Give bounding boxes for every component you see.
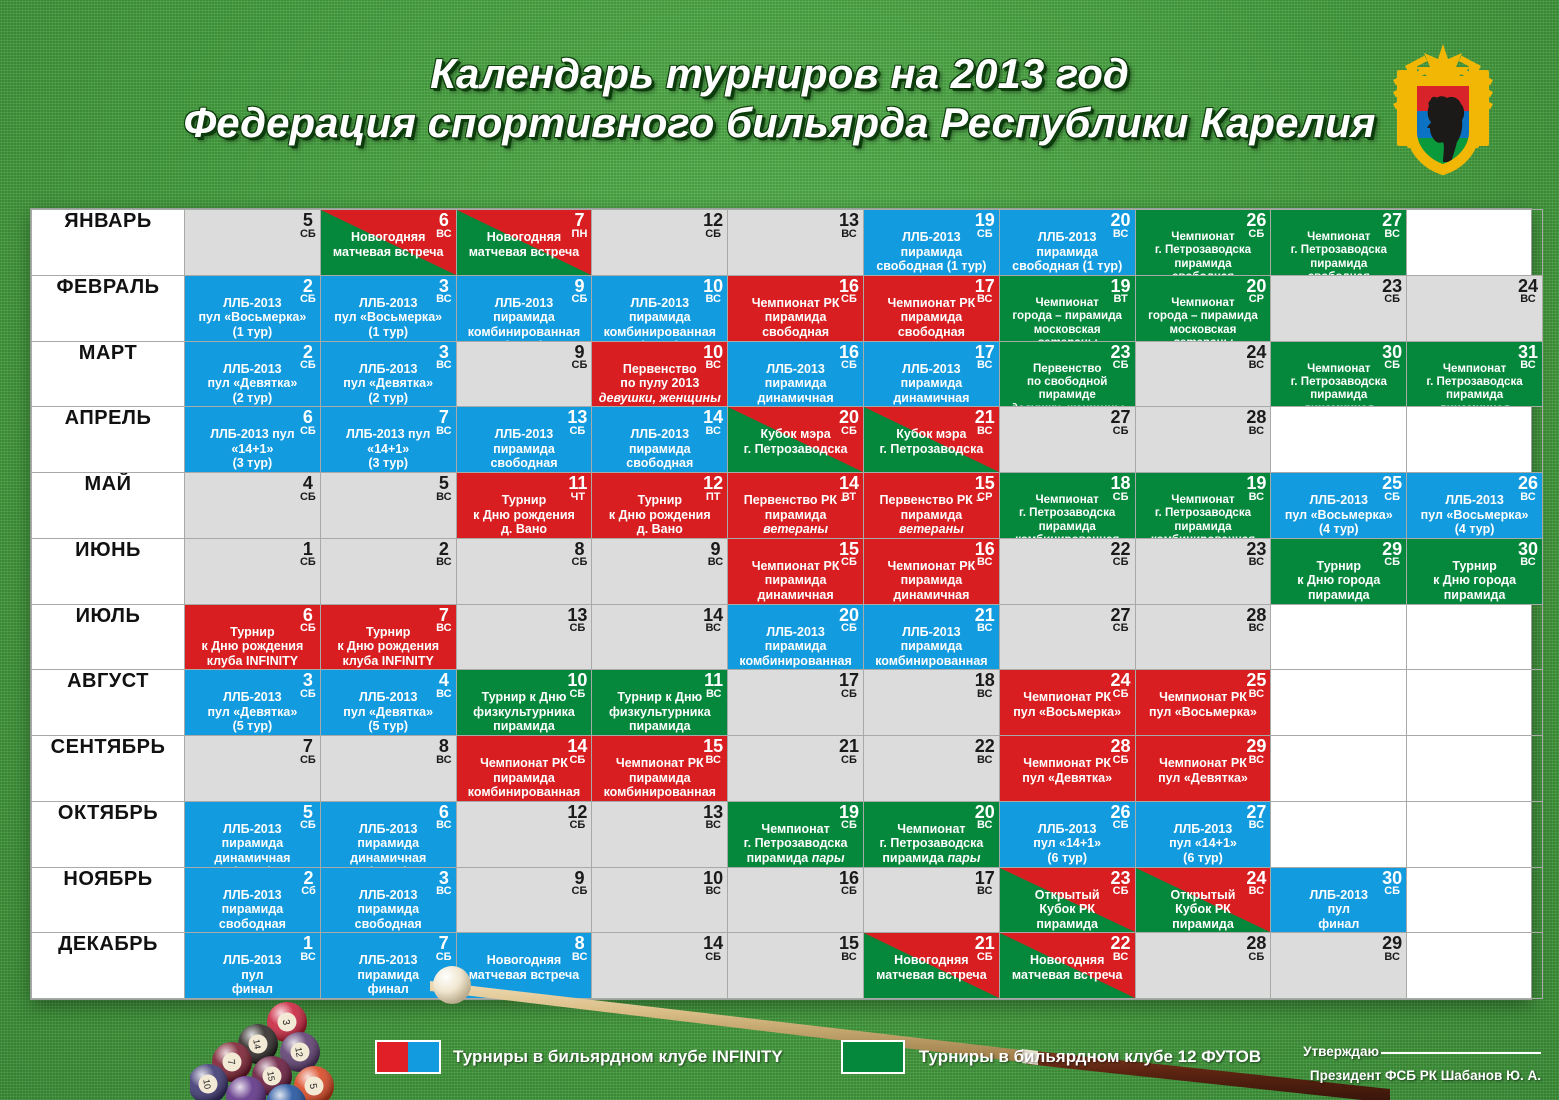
- cell-background-grey: 18ВС: [864, 670, 999, 735]
- calendar-cell-day[interactable]: 27ВСЧемпионатг. Петрозаводскапирамидасво…: [1271, 210, 1407, 276]
- cell-date: 5СБ: [300, 212, 316, 239]
- cell-date-number: 30: [1382, 344, 1402, 361]
- month-label: НОЯБРЬ: [32, 867, 185, 933]
- cell-date-number: 19: [1111, 278, 1131, 295]
- calendar-cell-day[interactable]: 24ВС: [1407, 275, 1543, 341]
- calendar-cell-day[interactable]: 15СРПервенство РК –пирамидаветераны: [863, 473, 999, 539]
- cell-event-label: ЛЛБ-2013пул «Восьмерка»(1 тур): [188, 296, 317, 340]
- cell-date: 16СБ: [839, 870, 859, 897]
- cell-background-green: 30ВСТурнирк Дню городапирамида: [1407, 539, 1542, 604]
- calendar-cell-day[interactable]: 7ПННовогодняяматчевая встреча: [456, 210, 592, 276]
- cell-date-weekday: СБ: [300, 492, 316, 502]
- calendar-row-январь: ЯНВАРЬ5СБ6ВСНовогодняяматчевая встреча7П…: [32, 210, 1543, 276]
- calendar-cell-day[interactable]: 23СБПервенствопо свободнойпирамидедевушк…: [999, 341, 1135, 407]
- cell-date: 3СБ: [300, 672, 316, 699]
- cell-date: 27СБ: [1111, 409, 1131, 436]
- cell-date-weekday: ВС: [436, 886, 451, 896]
- cell-date-weekday: ВС: [1246, 820, 1266, 830]
- calendar-cell-day[interactable]: 6ВСЛЛБ-2013пирамидадинамичная(6 тур): [320, 801, 456, 867]
- cell-date-number: 6: [436, 804, 451, 821]
- cell-background-grey: 4СБ: [185, 473, 320, 538]
- cell-date-weekday: СБ: [572, 886, 588, 896]
- cell-date: 25ВС: [1246, 672, 1266, 699]
- calendar-cell-day[interactable]: 19ВТЧемпионатгорода – пирамидамосковская…: [999, 275, 1135, 341]
- calendar-cell-day[interactable]: 26СБЧемпионатг. Петрозаводскапирамидасво…: [1135, 210, 1271, 276]
- cell-date: 6ВС: [436, 212, 451, 239]
- calendar-cell-day[interactable]: 2СБЛЛБ-2013пул «Девятка»(2 тур): [185, 341, 321, 407]
- cell-background-blue: 20ВСЛЛБ-2013пирамидасвободная (1 тур): [1000, 210, 1135, 275]
- calendar-cell-day[interactable]: 24СБЧемпионат РКпул «Восьмерка»: [999, 670, 1135, 736]
- cell-background-grey: 16СБ: [728, 868, 863, 933]
- cell-background-grey: 22СБ: [1000, 539, 1135, 604]
- calendar-cell-day[interactable]: 9СБЛЛБ-2013пирамидакомбинированная(2 тур…: [456, 275, 592, 341]
- cell-date: 23ВС: [1246, 541, 1266, 568]
- cell-date-weekday: ВС: [436, 492, 451, 502]
- calendar-cell-day[interactable]: 24ВС: [1135, 341, 1271, 407]
- calendar-cell-day[interactable]: 29ВСЧемпионат РКпул «Девятка»: [1135, 736, 1271, 802]
- calendar-cell-day[interactable]: 5ВС: [320, 473, 456, 539]
- calendar-cell-day[interactable]: 31ВСЧемпионатг. Петрозаводскапирамидадин…: [1407, 341, 1543, 407]
- calendar-cell-day[interactable]: 29СБТурнирк Дню городапирамида: [1271, 538, 1407, 604]
- signature-line: [1381, 1052, 1541, 1054]
- cell-background-blue: 2СбЛЛБ-2013пирамидасвободная(7 тур): [185, 868, 320, 933]
- calendar-cell-day[interactable]: 27СБ: [999, 407, 1135, 473]
- cell-background-red: 7ВСТурнирк Дню рожденияклуба INFINITY: [321, 605, 456, 670]
- cell-background-grey: 8ВС: [321, 736, 456, 801]
- cell-background-blue: 13СБЛЛБ-2013пирамида свободная(4 тур): [457, 407, 592, 472]
- calendar-cell-empty: [1271, 604, 1407, 670]
- cell-date-weekday: СБ: [1382, 294, 1402, 304]
- cell-date: 14СБ: [567, 738, 587, 765]
- cell-background-grey: 22ВС: [864, 736, 999, 801]
- calendar-cell-day[interactable]: 23ВС: [1135, 538, 1271, 604]
- calendar-cell-day[interactable]: 30СБЛЛБ-2013пулфинал: [1271, 867, 1407, 933]
- calendar-cell-day[interactable]: 5СБ: [185, 210, 321, 276]
- cell-date-number: 20: [1246, 278, 1266, 295]
- calendar-cell-day[interactable]: 18ВС: [863, 670, 999, 736]
- cell-date-number: 7: [300, 738, 316, 755]
- calendar-cell-day[interactable]: 5СБЛЛБ-2013пирамидадинамичная(6 тур): [185, 801, 321, 867]
- calendar-cell-day[interactable]: 7СБ: [185, 736, 321, 802]
- cell-date: 23СБ: [1111, 344, 1131, 371]
- cell-date-number: 15: [839, 935, 859, 952]
- calendar-cell-day[interactable]: 4ВСЛЛБ-2013пул «Девятка»(5 тур): [320, 670, 456, 736]
- cell-date-weekday: СБ: [839, 689, 859, 699]
- cell-date: 12СБ: [703, 212, 723, 239]
- cell-date-weekday: ВС: [1518, 360, 1538, 370]
- cell-date-weekday: СР: [975, 492, 995, 502]
- cell-date-number: 30: [1518, 541, 1538, 558]
- calendar-cell-day[interactable]: 17ВС: [863, 867, 999, 933]
- cell-date-number: 24: [1518, 278, 1538, 295]
- cell-background-green: 29СБТурнирк Дню городапирамида: [1271, 539, 1406, 604]
- cell-background-green: 26СБЧемпионатг. Петрозаводскапирамидасво…: [1136, 210, 1271, 275]
- calendar-row-март: МАРТ2СБЛЛБ-2013пул «Девятка»(2 тур)3ВСЛЛ…: [32, 341, 1543, 407]
- calendar-cell-day[interactable]: 26ВСЛЛБ-2013пул «Восьмерка»(4 тур): [1407, 473, 1543, 539]
- cell-event-label: ЛЛБ-2013пирамидадинамичная(6 тур): [324, 822, 453, 867]
- calendar-cell-day[interactable]: 13СБ: [456, 604, 592, 670]
- cell-date-weekday: ВС: [1518, 492, 1538, 502]
- cell-date: 28ВС: [1246, 607, 1266, 634]
- cell-date-weekday: СБ: [975, 229, 995, 239]
- cell-date-number: 9: [572, 344, 588, 361]
- cell-date-weekday: ВС: [1246, 557, 1266, 567]
- cell-date-weekday: ВС: [975, 689, 995, 699]
- cell-date: 9СБ: [572, 278, 588, 305]
- calendar-cell-day[interactable]: 9СБ: [456, 867, 592, 933]
- calendar-cell-day[interactable]: 2ВС: [320, 538, 456, 604]
- cell-date: 7ПН: [572, 212, 588, 239]
- calendar-cell-day[interactable]: 27ВСЛЛБ-2013пул «14+1»(6 тур): [1135, 801, 1271, 867]
- cell-date-number: 17: [975, 870, 995, 887]
- cell-background-blue: 25СБЛЛБ-2013пул «Восьмерка»(4 тур): [1271, 473, 1406, 538]
- cell-date-weekday: СБ: [1111, 755, 1131, 765]
- cell-date: 9ВС: [708, 541, 723, 568]
- cell-background-grey: 14ВС: [592, 605, 727, 670]
- calendar-cell-day[interactable]: 9СБ: [456, 341, 592, 407]
- legend-item-12futov: Турниры в бильярдном клубе 12 ФУТОВ: [841, 1040, 1261, 1074]
- cell-date-weekday: ВС: [1518, 294, 1538, 304]
- calendar-cell-day[interactable]: 4СБ: [185, 473, 321, 539]
- calendar-cell-day[interactable]: 28ВС: [1135, 604, 1271, 670]
- cell-date: 19СБ: [839, 804, 859, 831]
- cell-date-number: 16: [839, 870, 859, 887]
- cell-background-green: 20СРЧемпионатгорода – пирамидамосковская…: [1136, 276, 1271, 341]
- calendar-cell-day[interactable]: 10ВСЛЛБ-2013пирамидакомбинированная(2 ту…: [592, 275, 728, 341]
- calendar-row-февраль: ФЕВРАЛЬ2СБЛЛБ-2013пул «Восьмерка»(1 тур)…: [32, 275, 1543, 341]
- cell-date: 18ВС: [975, 672, 995, 699]
- cell-date: 16СБ: [839, 278, 859, 305]
- calendar-cell-day[interactable]: 16СБЧемпионат РКпирамидасвободная: [728, 275, 864, 341]
- cell-date-weekday: ВС: [703, 360, 723, 370]
- cell-background-green: 19СБЧемпионатг. Петрозаводскапирамида па…: [728, 802, 863, 867]
- calendar-cell-day[interactable]: 22СБ: [999, 538, 1135, 604]
- cell-date: 6СБ: [300, 409, 316, 436]
- calendar-cell-day[interactable]: 2СбЛЛБ-2013пирамидасвободная(7 тур): [185, 867, 321, 933]
- calendar-cell-day[interactable]: 21ВСКубок мэраг. Петрозаводска: [863, 407, 999, 473]
- cell-date: 23СБ: [1111, 870, 1131, 897]
- calendar-cell-day[interactable]: 3ВСЛЛБ-2013пул «Девятка»(2 тур): [320, 341, 456, 407]
- cell-background-green: 19ВТЧемпионатгорода – пирамидамосковская…: [1000, 276, 1135, 341]
- cell-event-label: Новогодняяматчевая встреча: [460, 230, 589, 259]
- cell-background-grey: 12СБ: [592, 210, 727, 275]
- cell-date-weekday: ВС: [708, 557, 723, 567]
- calendar-cell-day[interactable]: 16СБЛЛБ-2013пирамидадинамичная(3 тур): [728, 341, 864, 407]
- cell-date-weekday: ВС: [839, 229, 859, 239]
- calendar-cell-day[interactable]: 20ВСЧемпионатг. Петрозаводскапирамида па…: [863, 801, 999, 867]
- calendar-cell-day[interactable]: 24ВСОткрытыйКубок РКпирамидакомбинирован…: [1135, 867, 1271, 933]
- cell-date-weekday: Сб: [301, 886, 316, 896]
- calendar-cell-day[interactable]: 14СБЧемпионат РКпирамидакомбинированная: [456, 736, 592, 802]
- cell-date-weekday: СБ: [567, 755, 587, 765]
- cell-date: 2СБ: [300, 278, 316, 305]
- calendar-cell-day[interactable]: 19СБЛЛБ-2013пирамидасвободная (1 тур): [863, 210, 999, 276]
- cell-date-number: 14: [839, 475, 859, 492]
- calendar-cell-day[interactable]: 15СБЧемпионат РКпирамидадинамичная: [728, 538, 864, 604]
- calendar-cell-day[interactable]: 27СБ: [999, 604, 1135, 670]
- cell-background-blue: 7ВСЛЛБ-2013 пул«14+1»(3 тур): [321, 407, 456, 472]
- cell-date-weekday: ВС: [703, 886, 723, 896]
- cell-date-weekday: СБ: [300, 755, 316, 765]
- calendar-cell-day[interactable]: 26СБЛЛБ-2013пул «14+1»(6 тур): [999, 801, 1135, 867]
- calendar-cell-day[interactable]: 1ВСЛЛБ-2013пулфинал: [185, 933, 321, 999]
- cell-date: 17ВС: [975, 344, 995, 371]
- calendar-cell-empty: [1271, 407, 1407, 473]
- cell-date-number: 16: [975, 541, 995, 558]
- calendar-cell-day[interactable]: 17СБ: [728, 670, 864, 736]
- calendar-cell-day[interactable]: 8СБ: [456, 538, 592, 604]
- cell-date-number: 13: [567, 409, 587, 426]
- cell-date-number: 22: [1111, 541, 1131, 558]
- cell-date-number: 27: [1111, 409, 1131, 426]
- cell-background-grey: 17СБ: [728, 670, 863, 735]
- cell-date: 7ВС: [436, 409, 451, 436]
- calendar-cell-day[interactable]: 19ВСЧемпионатг. Петрозаводскапирамидаком…: [1135, 473, 1271, 539]
- cell-date: 12ПТ: [703, 475, 723, 502]
- calendar-cell-day[interactable]: 14ВТПервенство РК –пирамидаветераны: [728, 473, 864, 539]
- cell-date-weekday: ВС: [436, 820, 451, 830]
- cell-date-weekday: СБ: [839, 294, 859, 304]
- cell-date: 4ВС: [436, 672, 451, 699]
- cell-date-number: 25: [1246, 672, 1266, 689]
- calendar-cell-day[interactable]: 15ВСЧемпионат РКпирамидакомбинированная: [592, 736, 728, 802]
- calendar-cell-day[interactable]: 10ВС: [592, 867, 728, 933]
- cell-date-weekday: СБ: [572, 294, 588, 304]
- cell-date: 30СБ: [1382, 870, 1402, 897]
- cell-date: 15СР: [975, 475, 995, 502]
- cell-date-number: 13: [839, 212, 859, 229]
- calendar-cell-day[interactable]: 13ВС: [728, 210, 864, 276]
- cell-background-grey: 13ВС: [728, 210, 863, 275]
- legend-swatch-infinity: [375, 1040, 441, 1074]
- cell-date: 3ВС: [436, 870, 451, 897]
- cell-background-grey: 1СБ: [185, 539, 320, 604]
- calendar-cell-day[interactable]: 10ВСПервенствопо пулу 2013девушки, женщи…: [592, 341, 728, 407]
- calendar-cell-day[interactable]: 6СБЛЛБ-2013 пул«14+1»(3 тур): [185, 407, 321, 473]
- calendar-cell-day[interactable]: 21СБ: [728, 736, 864, 802]
- cell-date-weekday: ВС: [436, 755, 451, 765]
- calendar-cell-day[interactable]: 7ВСЛЛБ-2013 пул«14+1»(3 тур): [320, 407, 456, 473]
- cell-background-grey: 12СБ: [457, 802, 592, 867]
- cell-background-grey: 13СБ: [457, 605, 592, 670]
- svg-text:12: 12: [293, 1046, 305, 1058]
- calendar-cell-day[interactable]: 28ВС: [1135, 407, 1271, 473]
- calendar-cell-day[interactable]: 12СБ: [592, 210, 728, 276]
- cell-background-red: 28СБЧемпионат РКпул «Девятка»: [1000, 736, 1135, 801]
- cell-background-red: 16СБЧемпионат РКпирамидасвободная: [728, 276, 863, 341]
- calendar-cell-day[interactable]: 20СБЛЛБ-2013пирамидакомбинированная(5 ту…: [728, 604, 864, 670]
- calendar-cell-day[interactable]: 23СБОткрытыйКубок РКпирамидакомбинирован…: [999, 867, 1135, 933]
- calendar-cell-day[interactable]: 22ВС: [863, 736, 999, 802]
- cell-background-blue: 3ВСЛЛБ-2013пул «Девятка»(2 тур): [321, 342, 456, 407]
- cell-date-number: 5: [300, 804, 316, 821]
- cell-date-weekday: ЧТ: [568, 492, 587, 502]
- cell-event-label: ЛЛБ-2013пул «Девятка»(5 тур): [324, 690, 453, 734]
- cell-date-weekday: СБ: [300, 360, 316, 370]
- cell-date-weekday: ВС: [436, 557, 451, 567]
- calendar-cell-day[interactable]: 18СБЧемпионатг. Петрозаводскапирамидаком…: [999, 473, 1135, 539]
- cell-date-number: 14: [567, 738, 587, 755]
- calendar-cell-day[interactable]: 20СРЧемпионатгорода – пирамидамосковская…: [1135, 275, 1271, 341]
- cell-date: 9СБ: [572, 870, 588, 897]
- cell-date-number: 7: [436, 607, 451, 624]
- calendar-cell-day[interactable]: 21ВСЛЛБ-2013пирамидакомбинированная(5 ту…: [863, 604, 999, 670]
- calendar-cell-day[interactable]: 16ВСЧемпионат РКпирамидадинамичная: [863, 538, 999, 604]
- approval-word: Утверждаю: [1303, 1044, 1379, 1059]
- cell-date-weekday: СБ: [839, 426, 859, 436]
- cell-date: 21ВС: [975, 607, 995, 634]
- calendar-row-июнь: ИЮНЬ1СБ2ВС8СБ9ВС15СБЧемпионат РКпирамида…: [32, 538, 1543, 604]
- cell-date-weekday: ВС: [1111, 229, 1131, 239]
- cell-date: 13ВС: [839, 212, 859, 239]
- calendar-cell-empty: [1407, 736, 1543, 802]
- calendar-cell-day[interactable]: 14ВСЛЛБ-2013пирамида свободная(4 тур): [592, 407, 728, 473]
- calendar-cell-day[interactable]: 6ВСНовогодняяматчевая встреча: [320, 210, 456, 276]
- calendar-cell-day[interactable]: 3ВСЛЛБ-2013пул «Восьмерка»(1 тур): [320, 275, 456, 341]
- cell-date-number: 19: [839, 804, 859, 821]
- cell-date-weekday: ВС: [703, 623, 723, 633]
- cell-date: 5СБ: [300, 804, 316, 831]
- cell-background-red: 16ВСЧемпионат РКпирамидадинамичная: [864, 539, 999, 604]
- calendar-cell-day[interactable]: 3ВСЛЛБ-2013пирамидасвободная(7 тур): [320, 867, 456, 933]
- month-label: ФЕВРАЛЬ: [32, 275, 185, 341]
- cell-background-blue: 30СБЛЛБ-2013пулфинал: [1271, 868, 1406, 933]
- cell-date-number: 17: [975, 344, 995, 361]
- calendar-cell-day[interactable]: 17ВСЛЛБ-2013пирамидадинамичная(3 тур): [863, 341, 999, 407]
- calendar-cell-day[interactable]: 11ВСТурнир к Днюфизкультурникапирамида: [592, 670, 728, 736]
- cell-date-number: 8: [572, 541, 588, 558]
- cell-date-weekday: ВС: [1246, 623, 1266, 633]
- cell-date-weekday: СБ: [839, 557, 859, 567]
- cell-background-red: 25ВСЧемпионат РКпул «Восьмерка»: [1136, 670, 1271, 735]
- calendar-cell-day[interactable]: 6СБТурнирк Дню рожденияклуба INFINITY: [185, 604, 321, 670]
- calendar-cell-day[interactable]: 8ВС: [320, 736, 456, 802]
- cell-background-blue: 1ВСЛЛБ-2013пулфинал: [185, 933, 320, 998]
- calendar-cell-day[interactable]: 7ВСТурнирк Дню рожденияклуба INFINITY: [320, 604, 456, 670]
- cell-date-number: 26: [1518, 475, 1538, 492]
- cell-date-number: 2: [436, 541, 451, 558]
- cell-background-blue: 10ВСЛЛБ-2013пирамидакомбинированная(2 ту…: [592, 276, 727, 341]
- cell-date: 14ВС: [703, 607, 723, 634]
- svg-text:14: 14: [251, 1038, 263, 1050]
- calendar-cell-day[interactable]: 10СБТурнир к Днюфизкультурникапирамида: [456, 670, 592, 736]
- calendar-cell-day[interactable]: 20СБКубок мэраг. Петрозаводска: [728, 407, 864, 473]
- cell-date-weekday: ВС: [1518, 557, 1538, 567]
- calendar-cell-day[interactable]: 12СБ: [456, 801, 592, 867]
- calendar-cell-day[interactable]: 14ВС: [592, 604, 728, 670]
- calendar-cell-day[interactable]: 2СБЛЛБ-2013пул «Восьмерка»(1 тур): [185, 275, 321, 341]
- calendar-cell-day[interactable]: 11ЧТТурнирк Дню рожденияд. Вано: [456, 473, 592, 539]
- calendar-cell-day[interactable]: 13ВС: [592, 801, 728, 867]
- calendar-cell-day[interactable]: 12ПТТурнирк Дню рожденияд. Вано: [592, 473, 728, 539]
- cell-date-weekday: СБ: [567, 820, 587, 830]
- cell-date: 1ВС: [300, 935, 315, 962]
- cell-date: 7СБ: [300, 738, 316, 765]
- cell-date: 21ВС: [975, 409, 995, 436]
- cell-date-weekday: ВТ: [1111, 294, 1131, 304]
- cell-date-number: 6: [300, 607, 316, 624]
- calendar-cell-day[interactable]: 1СБ: [185, 538, 321, 604]
- cell-background-red: 29ВСЧемпионат РКпул «Девятка»: [1136, 736, 1271, 801]
- cell-date-number: 25: [1382, 475, 1402, 492]
- cell-background-grey: 27СБ: [1000, 605, 1135, 670]
- cell-date: 13СБ: [567, 607, 587, 634]
- cell-date-number: 4: [300, 475, 316, 492]
- cell-date-weekday: ВС: [300, 952, 315, 962]
- cell-background-split: 7ПННовогодняяматчевая встреча: [457, 210, 592, 275]
- legend-item-infinity: Турниры в бильярдном клубе INFINITY: [375, 1040, 783, 1074]
- cell-date: 3ВС: [436, 278, 451, 305]
- calendar-cell-day[interactable]: 16СБ: [728, 867, 864, 933]
- cell-date: 26СБ: [1246, 212, 1266, 239]
- calendar-cell-day[interactable]: 25СБЛЛБ-2013пул «Восьмерка»(4 тур): [1271, 473, 1407, 539]
- calendar-cell-day[interactable]: 9ВС: [592, 538, 728, 604]
- cell-date: 14ВС: [703, 409, 723, 436]
- calendar-cell-empty: [1407, 670, 1543, 736]
- cell-date-number: 24: [1246, 344, 1266, 361]
- calendar-cell-day[interactable]: 3СБЛЛБ-2013пул «Девятка»(5 тур): [185, 670, 321, 736]
- cell-date-weekday: СБ: [1111, 689, 1131, 699]
- calendar-cell-day[interactable]: 20ВСЛЛБ-2013пирамидасвободная (1 тур): [999, 210, 1135, 276]
- month-label: ИЮЛЬ: [32, 604, 185, 670]
- cell-event-label: ЛЛБ-2013пирамидакомбинированная(2 тур): [460, 296, 589, 341]
- cell-background-blue: 14ВСЛЛБ-2013пирамида свободная(4 тур): [592, 407, 727, 472]
- cell-date-number: 15: [975, 475, 995, 492]
- cue-stick-decoration: [430, 955, 1390, 1100]
- cell-background-blue: 21ВСЛЛБ-2013пирамидакомбинированная(5 ту…: [864, 605, 999, 670]
- cell-date-number: 3: [436, 344, 451, 361]
- cell-background-grey: 24ВС: [1407, 276, 1542, 341]
- calendar-row-октябрь: ОКТЯБРЬ5СБЛЛБ-2013пирамидадинамичная(6 т…: [32, 801, 1543, 867]
- cell-date: 19СБ: [975, 212, 995, 239]
- cell-date-weekday: СБ: [1382, 557, 1402, 567]
- calendar-cell-day[interactable]: 17ВСЧемпионат РКпирамидасвободная: [863, 275, 999, 341]
- cell-date-weekday: СБ: [300, 426, 316, 436]
- cell-background-grey: 9СБ: [457, 868, 592, 933]
- calendar-cell-day[interactable]: 13СБЛЛБ-2013пирамида свободная(4 тур): [456, 407, 592, 473]
- calendar-cell-day[interactable]: 23СБ: [1271, 275, 1407, 341]
- cell-date-weekday: СБ: [300, 689, 316, 699]
- cell-date-number: 21: [975, 935, 995, 952]
- cell-background-grey: 28ВС: [1136, 407, 1271, 472]
- cell-date-number: 9: [572, 870, 588, 887]
- cell-date-number: 5: [436, 475, 451, 492]
- cell-date: 9СБ: [572, 344, 588, 371]
- calendar-cell-empty: [1407, 407, 1543, 473]
- approval-line1: Утверждаю: [1303, 1044, 1541, 1059]
- calendar-cell-day[interactable]: 19СБЧемпионатг. Петрозаводскапирамида па…: [728, 801, 864, 867]
- cell-background-blue: 19СБЛЛБ-2013пирамидасвободная (1 тур): [864, 210, 999, 275]
- approval-line2: Президент ФСБ РК Шабанов Ю. А.: [1303, 1068, 1541, 1083]
- cell-background-split: 24ВСОткрытыйКубок РКпирамидакомбинирован…: [1136, 868, 1271, 933]
- cell-background-grey: 10ВС: [592, 868, 727, 933]
- cell-date: 27ВС: [1246, 804, 1266, 831]
- cell-date-weekday: ВС: [704, 689, 723, 699]
- poster-header: Календарь турниров на 2013 год Федерация…: [0, 52, 1559, 145]
- calendar-cell-day[interactable]: 30ВСТурнирк Дню городапирамида: [1407, 538, 1543, 604]
- cell-date: 19ВС: [1246, 475, 1266, 502]
- cell-date-number: 28: [1246, 409, 1266, 426]
- calendar-cell-day[interactable]: 25ВСЧемпионат РКпул «Восьмерка»: [1135, 670, 1271, 736]
- cell-date: 23СБ: [1382, 278, 1402, 305]
- cell-date-weekday: ВС: [703, 820, 723, 830]
- cell-background-blue: 5СБЛЛБ-2013пирамидадинамичная(6 тур): [185, 802, 320, 867]
- cell-date: 30ВС: [1518, 541, 1538, 568]
- calendar-cell-day[interactable]: 30СБЧемпионатг. Петрозаводскапирамидадин…: [1271, 341, 1407, 407]
- calendar-cell-day[interactable]: 28СБЧемпионат РКпул «Девятка»: [999, 736, 1135, 802]
- cell-date: 6СБ: [300, 607, 316, 634]
- cell-date: 16СБ: [839, 344, 859, 371]
